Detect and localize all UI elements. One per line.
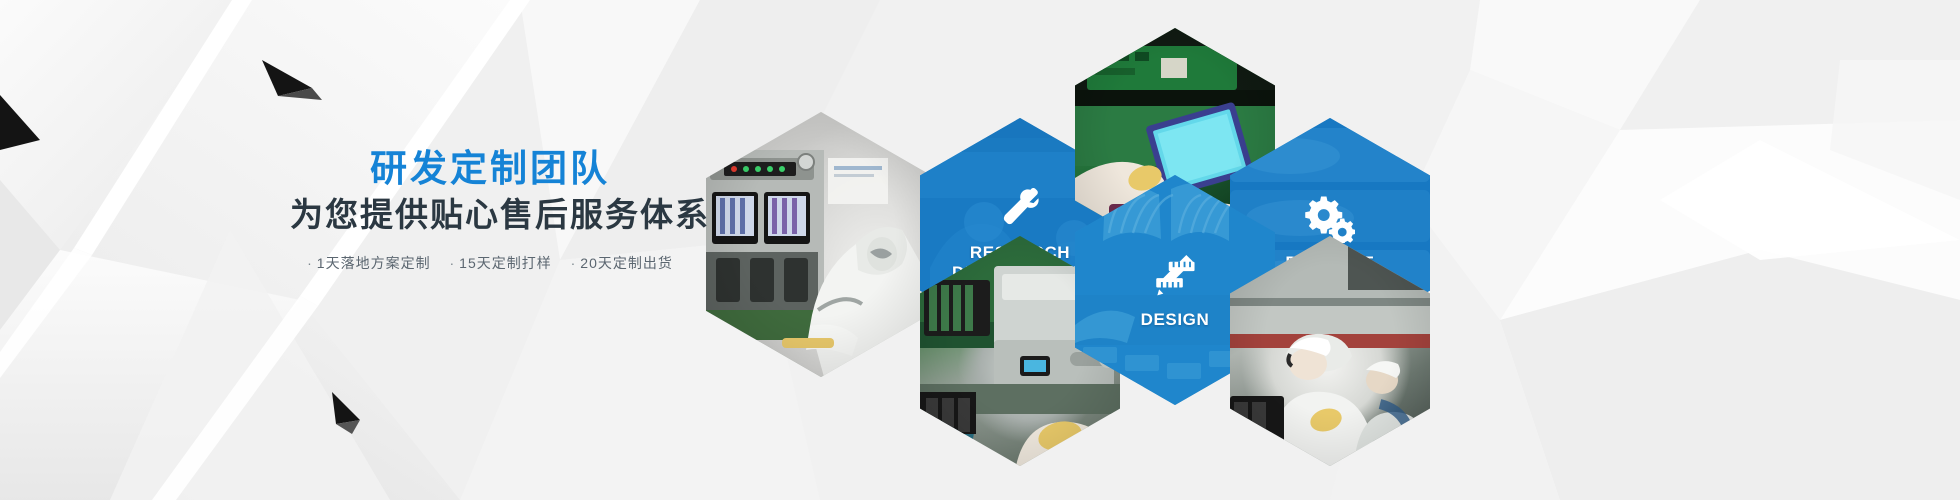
page-subtitle: 为您提供贴心售后服务体系 — [290, 195, 690, 235]
gears-icon — [1305, 193, 1355, 243]
hexagon-label: DESIGN — [1141, 310, 1210, 330]
wrench-screwdriver-icon — [995, 183, 1045, 233]
hexagon-cluster: RESEARCH DEVELOPMENT — [900, 0, 1960, 500]
hexagon-label-line-1: DESIGN — [1141, 310, 1210, 330]
pencil-ruler-icon — [1150, 250, 1200, 300]
feature-label: 20天定制出货 — [580, 255, 673, 271]
bullet-dot-icon: · — [307, 255, 313, 271]
promo-banner: 研发定制团队 为您提供贴心售后服务体系 ·1天落地方案定制 ·15天定制打样 ·… — [0, 0, 1960, 500]
bullet-dot-icon: · — [449, 255, 455, 271]
feature-list: ·1天落地方案定制 ·15天定制打样 ·20天定制出货 — [290, 253, 690, 273]
feature-item-2: ·15天定制打样 — [449, 255, 551, 271]
feature-item-1: ·1天落地方案定制 — [307, 255, 430, 271]
bullet-dot-icon: · — [571, 255, 577, 271]
page-title: 研发定制团队 — [290, 148, 690, 189]
feature-label: 15天定制打样 — [459, 255, 552, 271]
banner-text-block: 研发定制团队 为您提供贴心售后服务体系 ·1天落地方案定制 ·15天定制打样 ·… — [290, 148, 690, 273]
feature-item-3: ·20天定制出货 — [571, 255, 673, 271]
feature-label: 1天落地方案定制 — [317, 255, 431, 271]
